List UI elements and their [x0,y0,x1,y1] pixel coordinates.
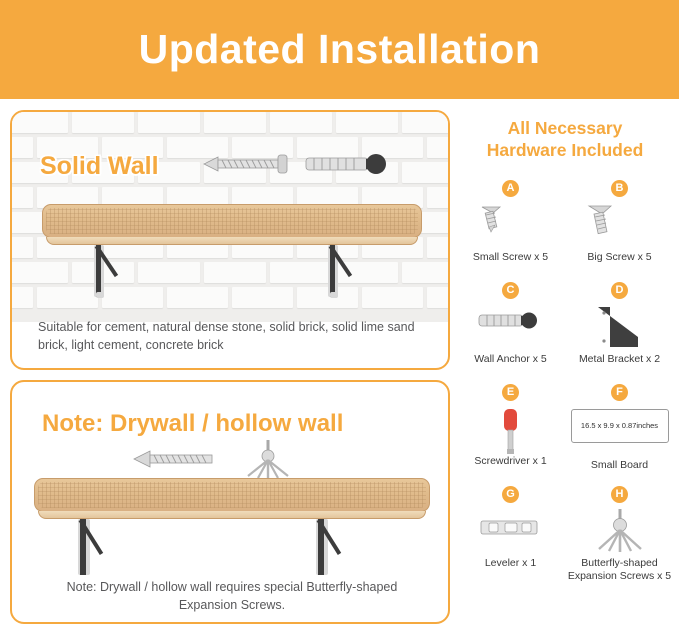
big-screw-icon [567,201,672,251]
wall-anchor-label: Wall Anchor x 5 [458,353,563,367]
badge-b: B [611,180,628,197]
butterfly-expansion-screw-illustration [240,438,296,480]
small-screw-illustration [202,150,292,178]
hardware-item-butterfly-screw: H Butterfly-shaped Expansion Screws x 5 [567,486,672,578]
drywall-label: Note: Drywall / hollow wall [42,410,343,438]
small-screw-icon [458,201,563,251]
board-dimension-text: 16.5 x 9.9 x 0.87inches [571,409,669,443]
screwdriver-icon [458,405,563,455]
metal-bracket-label: Metal Bracket x 2 [567,353,672,367]
badge-h: H [611,486,628,503]
header-banner: Updated Installation [0,0,679,99]
leveler-label: Leveler x 1 [458,557,563,571]
big-screw-label: Big Screw x 5 [567,251,672,265]
hardware-grid: A Small Screw x 5 B [458,180,672,578]
solid-wall-caption: Suitable for cement, natural dense stone… [38,318,428,354]
badge-c: C [502,282,519,299]
page-title: Updated Installation [139,29,541,70]
butterfly-screw-label: Butterfly-shaped Expansion Screws x 5 [567,557,672,584]
hardware-item-leveler: G Leveler x 1 [458,486,563,578]
shelf-illustration-solid [42,204,422,314]
hardware-title-line1: All Necessary [458,118,672,140]
small-board-icon: 16.5 x 9.9 x 0.87inches [567,409,672,459]
instruction-sheet: Updated Installation [0,0,679,634]
hardware-item-small-board: F 16.5 x 9.9 x 0.87inches Small Board [567,384,672,476]
leveler-icon [458,507,563,557]
solid-wall-panel: Solid Wall [10,110,450,370]
wall-anchor-icon [458,303,563,353]
drywall-panel: Note: Drywall / hollow wall [10,380,450,624]
badge-g: G [502,486,519,503]
badge-d: D [611,282,628,299]
hardware-title-line2: Hardware Included [458,140,672,162]
hardware-title: All Necessary Hardware Included [458,118,672,162]
badge-f: F [611,384,628,401]
drywall-caption: Note: Drywall / hollow wall requires spe… [42,578,422,614]
hardware-item-screwdriver: E Screwdriver x 1 [458,384,563,476]
hardware-item-wall-anchor: C Wall Anchor x 5 [458,282,563,374]
small-board-label: Small Board [567,459,672,473]
small-screw-label: Small Screw x 5 [458,251,563,265]
wall-anchor-illustration [300,148,400,180]
hardware-item-big-screw: B Big Screw x 5 [567,180,672,272]
left-column: Solid Wall [10,110,450,624]
badge-e: E [502,384,519,401]
hardware-column: All Necessary Hardware Included A [458,118,672,578]
big-screw-illustration [132,444,222,474]
metal-bracket-icon [567,303,672,353]
hardware-item-metal-bracket: D Metal Bracket x 2 [567,282,672,374]
hardware-item-small-screw: A Small Screw x 5 [458,180,563,272]
butterfly-screw-icon [567,507,672,557]
solid-wall-label: Solid Wall [40,152,159,181]
badge-a: A [502,180,519,197]
shelf-illustration-drywall [34,478,430,574]
